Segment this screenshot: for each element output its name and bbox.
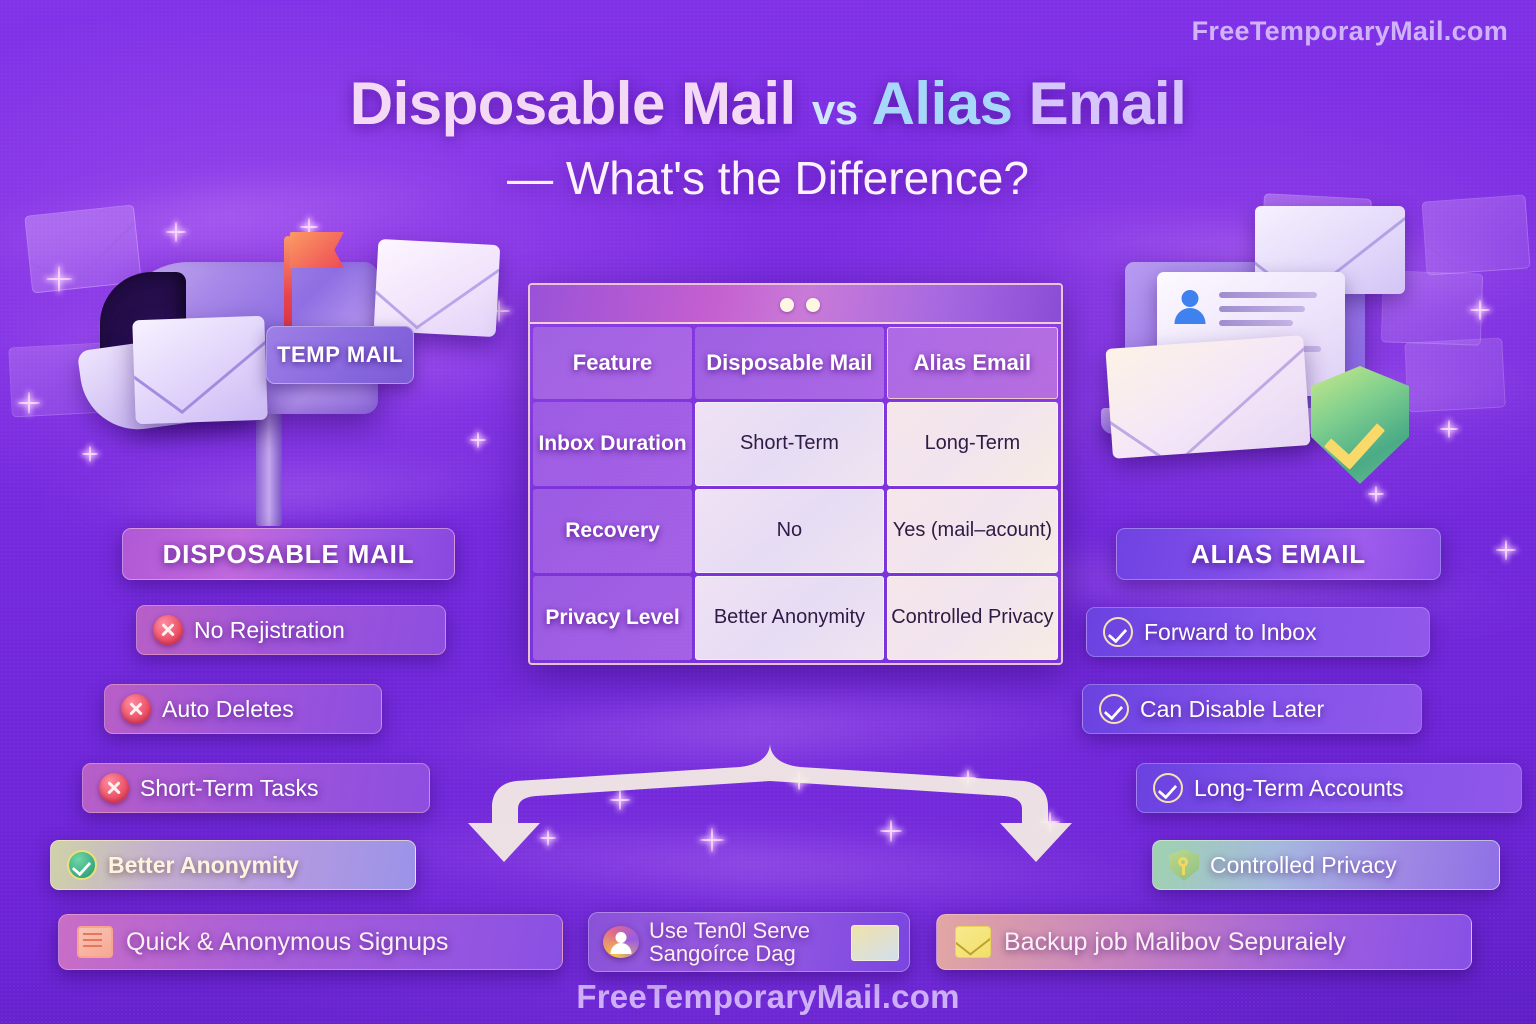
badge-label: Quick & Anonymous Signups xyxy=(126,928,448,957)
person-circle-icon xyxy=(603,926,639,958)
badge-can-disable-later[interactable]: Can Disable Later xyxy=(1082,684,1422,734)
row-value-alias: Yes (mail–acount) xyxy=(887,489,1058,573)
section-heading-alias: ALIAS EMAIL xyxy=(1116,528,1441,580)
badge-label-line1: Use Ten0l Serve xyxy=(649,919,810,942)
bg-wave xyxy=(379,687,1140,769)
sparkle-icon xyxy=(700,828,724,852)
badge-text-block: Use Ten0l Serve Sangoírce Dag xyxy=(649,919,810,965)
bottom-badge-quick-signups[interactable]: Quick & Anonymous Signups xyxy=(58,914,563,970)
check-circle-green-icon xyxy=(67,850,97,880)
badge-long-term-accounts[interactable]: Long-Term Accounts xyxy=(1136,763,1522,813)
row-label: Inbox Duration xyxy=(533,402,692,486)
title-line-1: Disposable Mail vs Alias Email xyxy=(0,72,1536,135)
table-row: Privacy Level Better Anonymity Controlle… xyxy=(533,576,1058,660)
col-header-alias: Alias Email xyxy=(887,327,1058,399)
sparkle-icon xyxy=(540,830,556,846)
badge-short-term-tasks[interactable]: Short-Term Tasks xyxy=(82,763,430,813)
badge-label: No Rejistration xyxy=(194,617,345,644)
bg-wave xyxy=(299,824,1200,903)
fork-arrow xyxy=(440,697,1100,862)
envelope-icon xyxy=(1105,335,1310,459)
row-value-disposable: No xyxy=(695,489,884,573)
sparkle-icon xyxy=(880,820,902,842)
card-decoration-icon xyxy=(851,925,899,961)
table-header-row: Feature Disposable Mail Alias Email xyxy=(533,327,1058,399)
watermark-bottom: FreeTemporaryMail.com xyxy=(0,978,1536,1016)
table-row: Recovery No Yes (mail–acount) xyxy=(533,489,1058,573)
title-word-alias: Alias xyxy=(872,70,1013,137)
badge-no-registration[interactable]: No Rejistration xyxy=(136,605,446,655)
envelope-icon xyxy=(374,239,501,337)
badge-label: Auto Deletes xyxy=(162,696,294,723)
comparison-table-card: Feature Disposable Mail Alias Email Inbo… xyxy=(528,283,1063,665)
comparison-table: Feature Disposable Mail Alias Email Inbo… xyxy=(530,324,1061,663)
check-circle-icon xyxy=(1103,617,1133,647)
table-cell: Short-Term xyxy=(695,402,884,486)
x-circle-icon xyxy=(153,615,183,645)
table-cell: No xyxy=(695,489,884,573)
col-header-disposable: Disposable Mail xyxy=(695,327,884,399)
row-value-disposable: Short-Term xyxy=(695,402,884,486)
table-cell: Recovery xyxy=(533,489,692,573)
sparkle-icon xyxy=(610,790,630,810)
title-word-email: Email xyxy=(1029,70,1187,137)
badge-better-anonymity[interactable]: Better Anonymity xyxy=(50,840,416,890)
row-value-disposable: Better Anonymity xyxy=(695,576,884,660)
row-value-alias: Long-Term xyxy=(887,402,1058,486)
shield-check-icon xyxy=(1311,366,1409,484)
row-label: Recovery xyxy=(533,489,692,573)
badge-label: Short-Term Tasks xyxy=(140,775,319,802)
window-dot-icon xyxy=(780,298,794,312)
badge-controlled-privacy[interactable]: Controlled Privacy xyxy=(1152,840,1500,890)
table-cell: Long-Term xyxy=(887,402,1058,486)
badge-label: Can Disable Later xyxy=(1140,696,1324,723)
badge-auto-deletes[interactable]: Auto Deletes xyxy=(104,684,382,734)
mailbox-flag-icon xyxy=(290,232,344,268)
sparkle-icon xyxy=(1040,812,1060,832)
badge-label: Better Anonymity xyxy=(108,852,299,879)
x-circle-icon xyxy=(99,773,129,803)
sparkle-icon xyxy=(18,392,40,414)
check-circle-icon xyxy=(1153,773,1183,803)
shield-key-icon xyxy=(1169,849,1199,881)
title-word-vs: vs xyxy=(812,86,858,133)
infographic-canvas: FreeTemporaryMail.com FreeTemporaryMail.… xyxy=(0,0,1536,1024)
sparkle-icon xyxy=(1496,540,1516,560)
card-line xyxy=(1219,306,1305,312)
x-circle-icon xyxy=(121,694,151,724)
table-cell: Better Anonymity xyxy=(695,576,884,660)
badge-forward-to-inbox[interactable]: Forward to Inbox xyxy=(1086,607,1430,657)
mailbox-illustration: TEMP MAIL xyxy=(60,200,500,530)
col-header-feature: Feature xyxy=(533,327,692,399)
bottom-badge-backup-mailbox[interactable]: Backup job Malibov Sepuraiely xyxy=(936,914,1472,970)
badge-label: Backup job Malibov Sepuraiely xyxy=(1004,928,1346,957)
mail-yellow-icon xyxy=(955,926,991,958)
table-titlebar xyxy=(530,285,1061,324)
badge-label: Long-Term Accounts xyxy=(1194,775,1404,802)
badge-label-line2: Sangoírce Dag xyxy=(649,942,810,965)
table-cell: Controlled Privacy xyxy=(887,576,1058,660)
table-header-cell: Alias Email xyxy=(887,327,1058,399)
laptop-illustration xyxy=(1095,200,1515,530)
watermark-top: FreeTemporaryMail.com xyxy=(1192,16,1508,47)
avatar xyxy=(1173,290,1207,324)
page-title: Disposable Mail vs Alias Email — What's … xyxy=(0,72,1536,205)
section-heading-disposable: DISPOSABLE MAIL xyxy=(122,528,455,580)
card-line xyxy=(1219,320,1293,326)
row-value-alias: Controlled Privacy xyxy=(887,576,1058,660)
title-word-disposable-mail: Disposable Mail xyxy=(350,70,796,137)
check-circle-icon xyxy=(1099,694,1129,724)
table-header-cell: Feature xyxy=(533,327,692,399)
sparkle-icon xyxy=(790,772,808,790)
badge-label: Forward to Inbox xyxy=(1144,619,1317,646)
window-dot-icon xyxy=(806,298,820,312)
sparkle-icon xyxy=(960,770,976,786)
title-subtitle: — What's the Difference? xyxy=(0,151,1536,205)
table-cell: Inbox Duration xyxy=(533,402,692,486)
row-label: Privacy Level xyxy=(533,576,692,660)
table-cell: Yes (mail–acount) xyxy=(887,489,1058,573)
envelope-icon xyxy=(132,316,268,425)
bottom-badge-use-temp-service[interactable]: Use Ten0l Serve Sangoírce Dag xyxy=(588,912,910,972)
table-row: Inbox Duration Short-Term Long-Term xyxy=(533,402,1058,486)
mailbox-label: TEMP MAIL xyxy=(266,326,414,384)
note-video-icon xyxy=(77,926,113,958)
badge-label: Controlled Privacy xyxy=(1210,852,1397,879)
card-line xyxy=(1219,292,1317,298)
table-cell: Privacy Level xyxy=(533,576,692,660)
table-header-cell: Disposable Mail xyxy=(695,327,884,399)
